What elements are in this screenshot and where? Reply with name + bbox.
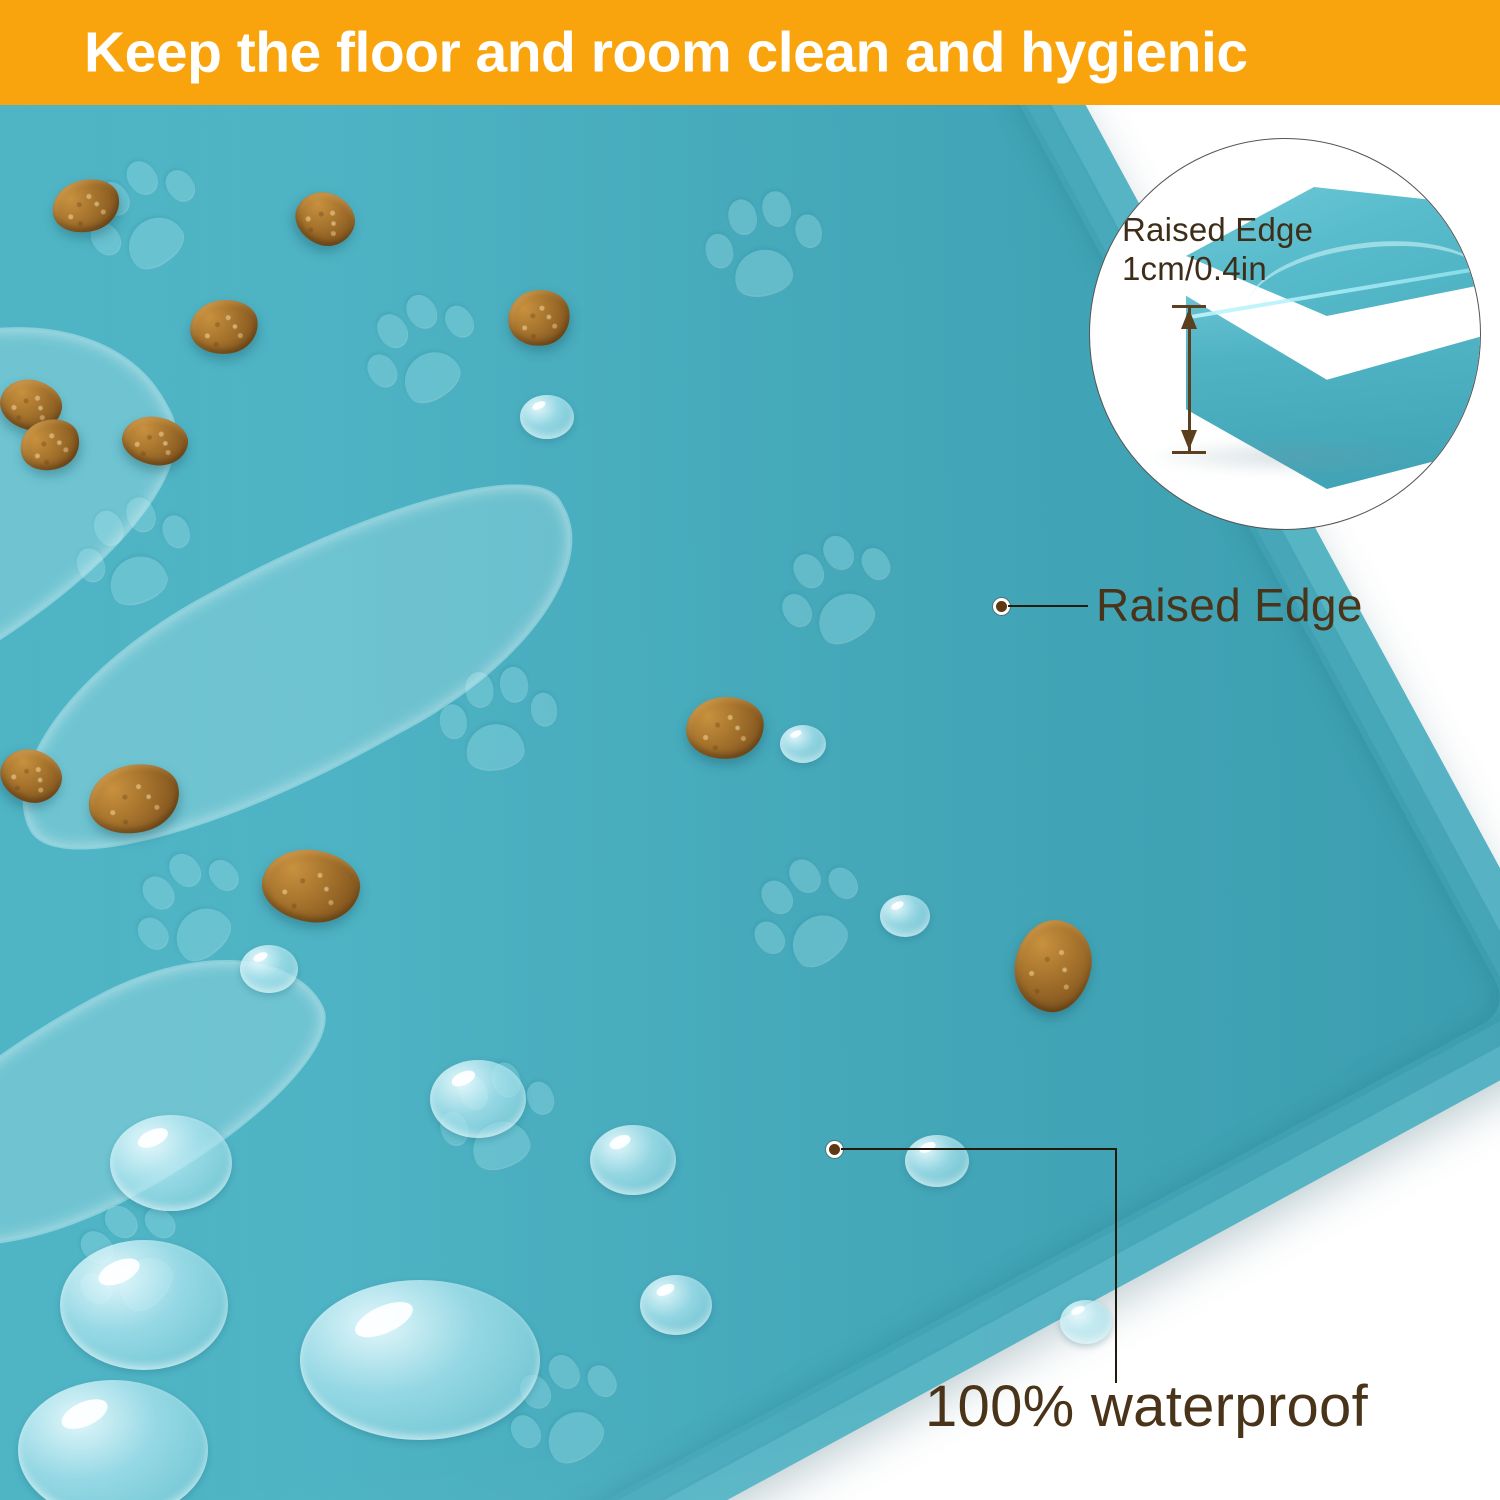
water-droplet: [1060, 1300, 1112, 1344]
paw-print-icon: [690, 177, 834, 317]
water-droplet: [905, 1135, 969, 1187]
paw-print-icon: [755, 513, 917, 674]
paw-print-icon: [339, 271, 503, 433]
annotation-label-raised-edge: Raised Edge: [1096, 578, 1363, 632]
water-droplet: [520, 395, 574, 439]
water-droplet: [240, 945, 298, 993]
water-droplet: [300, 1280, 540, 1440]
annotation-leader-line-horizontal: [841, 1148, 1117, 1150]
inset-label-text: Raised Edge 1cm/0.4in: [1122, 211, 1313, 289]
header-banner: Keep the floor and room clean and hygien…: [0, 0, 1500, 105]
water-droplet: [430, 1060, 526, 1138]
banner-headline: Keep the floor and room clean and hygien…: [84, 24, 1248, 81]
water-droplet: [60, 1240, 228, 1370]
dimension-arrow-icon: [1188, 307, 1191, 452]
paw-print-icon: [725, 835, 890, 999]
dimension-cap-bottom: [1172, 451, 1206, 454]
water-droplet: [590, 1125, 676, 1195]
annotation-leader-line-vertical: [1115, 1148, 1117, 1383]
water-droplet: [880, 895, 930, 937]
water-droplet: [640, 1275, 712, 1335]
product-marketing-image: Keep the floor and room clean and hygien…: [0, 0, 1500, 1500]
annotation-leader-line: [1008, 605, 1088, 607]
dimension-cap-top: [1172, 305, 1206, 308]
water-droplet: [110, 1115, 232, 1211]
annotation-label-waterproof: 100% waterproof: [925, 1373, 1368, 1440]
dimension-arrowhead-down: [1181, 430, 1197, 450]
raised-edge-inset-callout: Raised Edge 1cm/0.4in: [1089, 138, 1481, 530]
water-droplet: [780, 725, 826, 763]
dimension-arrowhead-up: [1181, 309, 1197, 329]
